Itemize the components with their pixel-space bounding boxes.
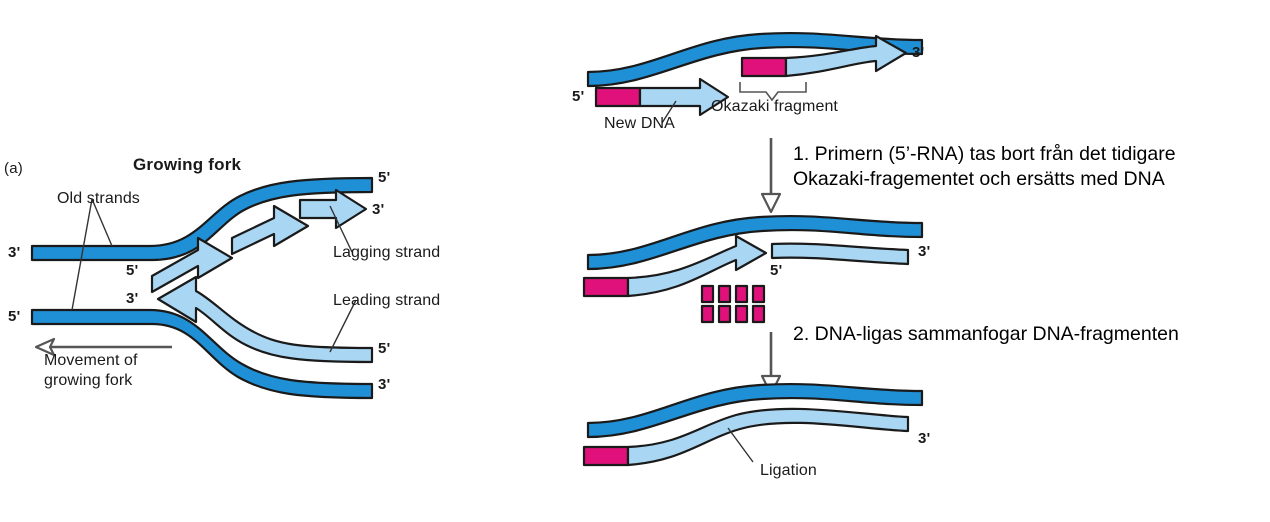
okazaki-fragment-label: Okazaki fragment	[711, 98, 838, 116]
stage1-primer-left	[596, 88, 640, 106]
fork-end-lagging-right: 3'	[372, 201, 385, 218]
annotation-step-1-line2: Okazaki-fragementet och ersätts med DNA	[793, 167, 1176, 192]
old-strands-label: Old strands	[57, 190, 140, 208]
dna-replication-figure: .old { fill:#1f8fd6; stroke:#1a1a1a; str…	[0, 0, 1270, 522]
nucleotide	[702, 306, 713, 322]
page-title: Growing fork	[133, 155, 241, 175]
stage-3-diagram	[584, 384, 922, 465]
stage-2-diagram	[584, 216, 922, 322]
leading-strand-label: Leading strand	[333, 292, 440, 310]
stage2-end-gap: 5'	[770, 262, 783, 279]
nucleotide	[702, 286, 713, 302]
flow-arrow-1	[762, 138, 780, 212]
fork-end-leading-right: 5'	[378, 340, 391, 357]
annotation-step-1-line1: 1. Primern (5’-RNA) tas bort från det ti…	[793, 142, 1176, 167]
fork-movement-label-line1: Movement of	[44, 352, 138, 370]
stage2-downstream-fragment	[772, 244, 908, 264]
stage2-end-right: 3'	[918, 243, 931, 260]
nucleotide	[719, 306, 730, 322]
annotation-step-1: 1. Primern (5’-RNA) tas bort från det ti…	[793, 142, 1176, 192]
okazaki-arrow-2	[232, 206, 308, 254]
annotation-step-2-line1: 2. DNA-ligas sammanfogar DNA-fragmenten	[793, 322, 1179, 347]
annotation-step-2: 2. DNA-ligas sammanfogar DNA-fragmenten	[793, 322, 1179, 347]
nucleotide	[736, 306, 747, 322]
stage3-end-right: 3'	[918, 430, 931, 447]
fork-end-top-right: 5'	[378, 169, 391, 186]
stage1-primer-okazaki	[742, 58, 786, 76]
stage2-primer-left	[584, 278, 628, 296]
lagging-strand-label: Lagging strand	[333, 244, 440, 262]
fork-movement-label-line2: growing fork	[44, 372, 132, 390]
okazaki-arrow-3	[300, 190, 366, 228]
ligation-leader	[728, 428, 753, 462]
leading-strand-arrow	[158, 277, 372, 362]
fork-end-leading-start: 3'	[126, 290, 139, 307]
fork-end-bottom-right: 3'	[378, 376, 391, 393]
nucleotide	[753, 286, 764, 302]
fork-end-lagging-start: 5'	[126, 262, 139, 279]
panel-letter: (a)	[4, 160, 23, 177]
stage1-end-right: 3'	[912, 44, 925, 61]
stage3-primer-left	[584, 447, 628, 465]
fork-end-top-left: 3'	[8, 244, 21, 261]
removed-nucleotides	[702, 286, 764, 322]
nucleotide	[736, 286, 747, 302]
fork-end-bottom-left: 5'	[8, 308, 21, 325]
new-dna-label: New DNA	[604, 115, 675, 133]
stage1-end-left: 5'	[572, 88, 585, 105]
figure-artwork: .old { fill:#1f8fd6; stroke:#1a1a1a; str…	[0, 0, 1270, 522]
nucleotide	[753, 306, 764, 322]
nucleotide	[719, 286, 730, 302]
ligation-label: Ligation	[760, 462, 817, 480]
